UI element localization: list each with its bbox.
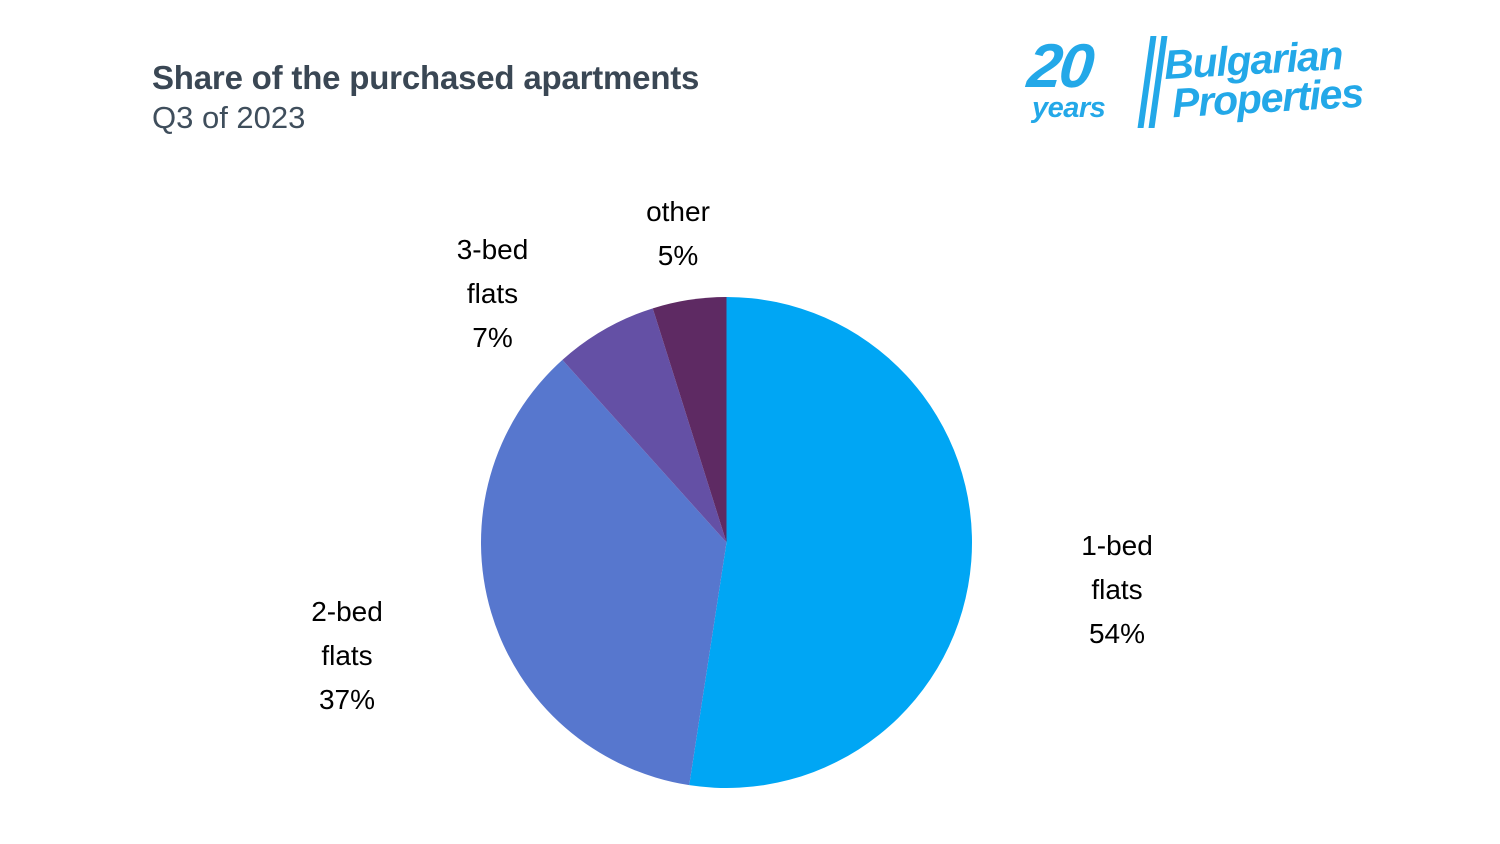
pie-chart <box>0 0 1500 844</box>
chart-canvas: Share of the purchased apartments Q3 of … <box>0 0 1500 844</box>
pie-label-2-bed-name-1: 2-bed <box>262 590 432 634</box>
pie-label-1-bed-name-2: flats <box>1032 568 1202 612</box>
pie-label-other-value: 5% <box>598 234 758 278</box>
pie-label-2-bed-value: 37% <box>262 678 432 722</box>
pie-label-1-bed-name-1: 1-bed <box>1032 524 1202 568</box>
pie-label-other-name: other <box>598 190 758 234</box>
pie-label-other: other 5% <box>598 190 758 278</box>
pie-label-1-bed-value: 54% <box>1032 612 1202 656</box>
pie-label-2-bed-flats: 2-bed flats 37% <box>262 590 432 722</box>
pie-label-3-bed-name-2: flats <box>410 272 575 316</box>
pie-label-2-bed-name-2: flats <box>262 634 432 678</box>
pie-label-3-bed-value: 7% <box>410 316 575 360</box>
pie-label-3-bed-flats: 3-bed flats 7% <box>410 228 575 360</box>
pie-label-1-bed-flats: 1-bed flats 54% <box>1032 524 1202 656</box>
pie-label-3-bed-name-1: 3-bed <box>410 228 575 272</box>
pie-chart-svg <box>0 0 1500 844</box>
pie-slice-1-bed-flats <box>689 297 972 788</box>
pie-slice-group <box>481 297 972 788</box>
